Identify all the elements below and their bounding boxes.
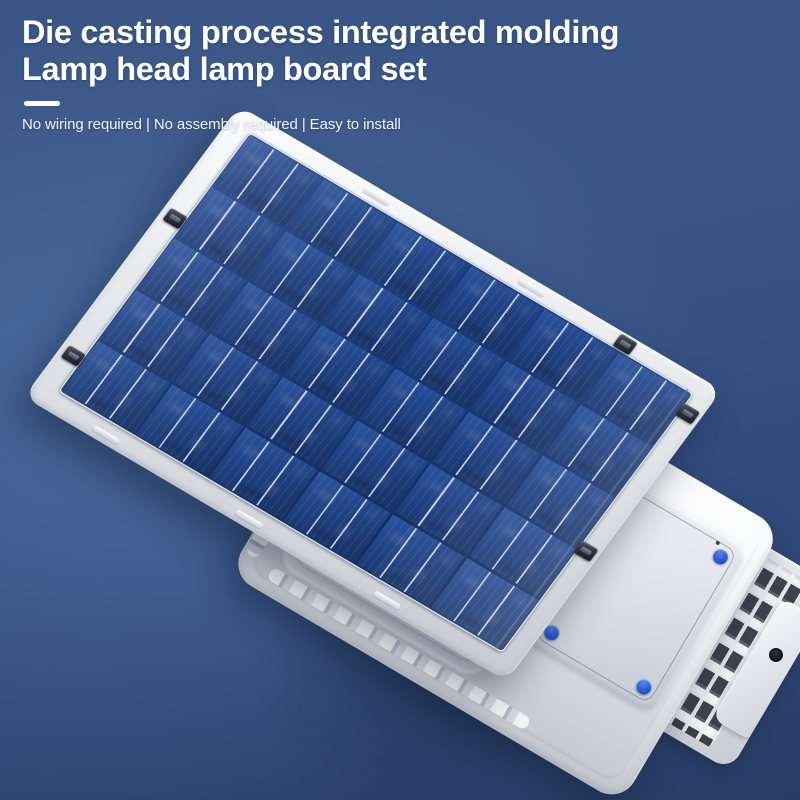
product-banner: Die casting process integrated molding L… <box>0 0 800 800</box>
banner-title-line-2: Lamp head lamp board set <box>22 51 782 88</box>
banner-title-line-1: Die casting process integrated molding <box>22 14 782 51</box>
title-divider-rule <box>24 101 60 106</box>
banner-header: Die casting process integrated molding L… <box>22 14 782 134</box>
banner-subtitle: No wiring required | No assembly require… <box>22 115 782 134</box>
